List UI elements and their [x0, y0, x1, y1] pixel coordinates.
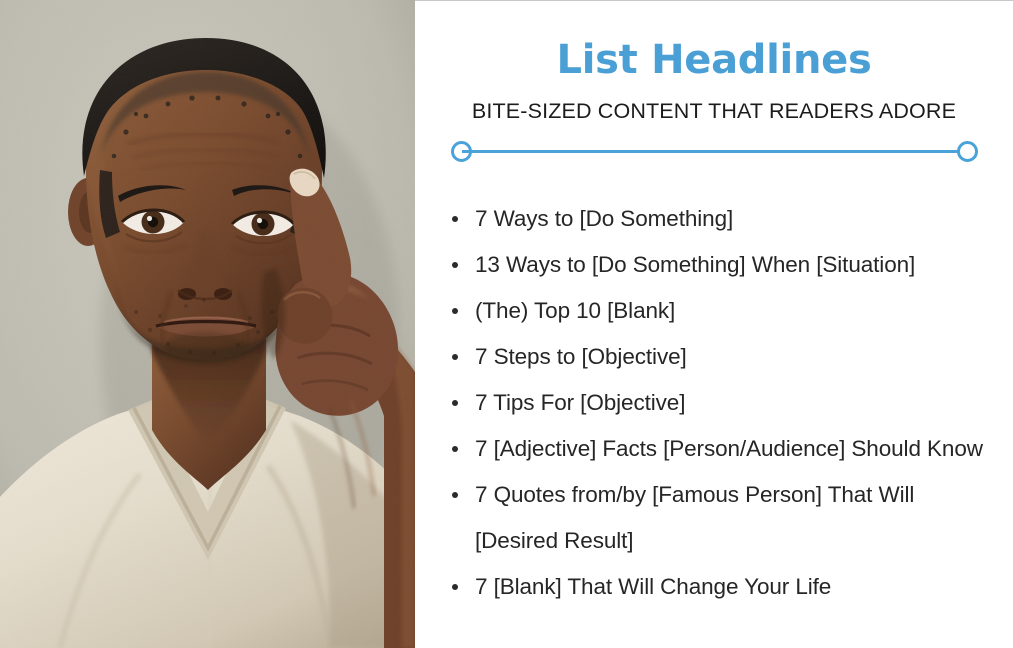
- content-pane: List Headlines BITE-SIZED CONTENT THAT R…: [415, 0, 1013, 648]
- slide-root: List Headlines BITE-SIZED CONTENT THAT R…: [0, 0, 1013, 648]
- list-item: 7 [Blank] That Will Change Your Life: [447, 564, 1003, 610]
- page-title: List Headlines: [415, 40, 1013, 80]
- list-item: (The) Top 10 [Blank]: [447, 288, 1003, 334]
- portrait-photo: [0, 0, 415, 648]
- divider-right-cap-icon: [957, 141, 978, 162]
- list-item: 7 [Adjective] Facts [Person/Audience] Sh…: [447, 426, 1003, 472]
- list-item: 7 Tips For [Objective]: [447, 380, 1003, 426]
- list-item: 7 Ways to [Do Something]: [447, 196, 1003, 242]
- top-divider-rule: [415, 0, 1013, 1]
- list-item: 13 Ways to [Do Something] When [Situatio…: [447, 242, 1003, 288]
- divider-line: [462, 150, 967, 153]
- section-divider: [451, 141, 978, 163]
- page-subtitle: BITE-SIZED CONTENT THAT READERS ADORE: [415, 100, 1013, 124]
- list-item: 7 Steps to [Objective]: [447, 334, 1003, 380]
- portrait-photo-illustration: [0, 0, 415, 648]
- list-item: 7 Quotes from/by [Famous Person] That Wi…: [447, 472, 1003, 564]
- headline-list: 7 Ways to [Do Something] 13 Ways to [Do …: [415, 196, 1013, 610]
